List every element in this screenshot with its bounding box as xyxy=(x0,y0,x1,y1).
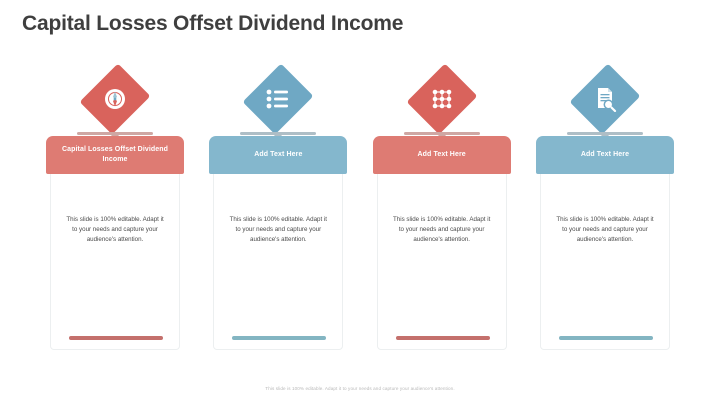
slide-canvas: Capital Losses Offset Dividend Income xyxy=(0,0,720,404)
content-card: This slide is 100% editable. Adapt it to… xyxy=(213,162,343,350)
infographic-columns: This slide is 100% editable. Adapt it to… xyxy=(0,62,720,362)
diamond-shape xyxy=(80,64,151,135)
content-card: This slide is 100% editable. Adapt it to… xyxy=(377,162,507,350)
card-accent-bar xyxy=(69,336,163,340)
card-accent-bar xyxy=(559,336,653,340)
content-card: This slide is 100% editable. Adapt it to… xyxy=(50,162,180,350)
diamond-badge[interactable] xyxy=(247,66,309,132)
column-header-label: Add Text Here xyxy=(418,150,466,160)
diamond-badge[interactable] xyxy=(411,66,473,132)
diamond-shape xyxy=(243,64,314,135)
diamond-shape xyxy=(570,64,641,135)
card-accent-bar xyxy=(396,336,490,340)
card-body-text: This slide is 100% editable. Adapt it to… xyxy=(63,215,167,245)
column-header-box[interactable]: Add Text Here xyxy=(209,136,347,174)
column-header-label: Capital Losses Offset Dividend Income xyxy=(52,145,178,165)
diamond-badge[interactable] xyxy=(84,66,146,132)
footer-note: This slide is 100% editable. Adapt it to… xyxy=(0,386,720,391)
card-accent-bar xyxy=(232,336,326,340)
infographic-column[interactable]: This slide is 100% editable. Adapt it to… xyxy=(536,62,674,362)
page-title: Capital Losses Offset Dividend Income xyxy=(22,12,403,36)
column-header-box[interactable]: Add Text Here xyxy=(373,136,511,174)
infographic-column[interactable]: This slide is 100% editable. Adapt it to… xyxy=(209,62,347,362)
card-body-text: This slide is 100% editable. Adapt it to… xyxy=(553,215,657,245)
card-body-text: This slide is 100% editable. Adapt it to… xyxy=(390,215,494,245)
infographic-column[interactable]: This slide is 100% editable. Adapt it to… xyxy=(46,62,184,362)
diamond-shape xyxy=(406,64,477,135)
column-header-label: Add Text Here xyxy=(581,150,629,160)
column-header-box[interactable]: Add Text Here xyxy=(536,136,674,174)
column-header-box[interactable]: Capital Losses Offset Dividend Income xyxy=(46,136,184,174)
card-body-text: This slide is 100% editable. Adapt it to… xyxy=(226,215,330,245)
content-card: This slide is 100% editable. Adapt it to… xyxy=(540,162,670,350)
column-header-label: Add Text Here xyxy=(254,150,302,160)
diamond-badge[interactable] xyxy=(574,66,636,132)
infographic-column[interactable]: This slide is 100% editable. Adapt it to… xyxy=(373,62,511,362)
